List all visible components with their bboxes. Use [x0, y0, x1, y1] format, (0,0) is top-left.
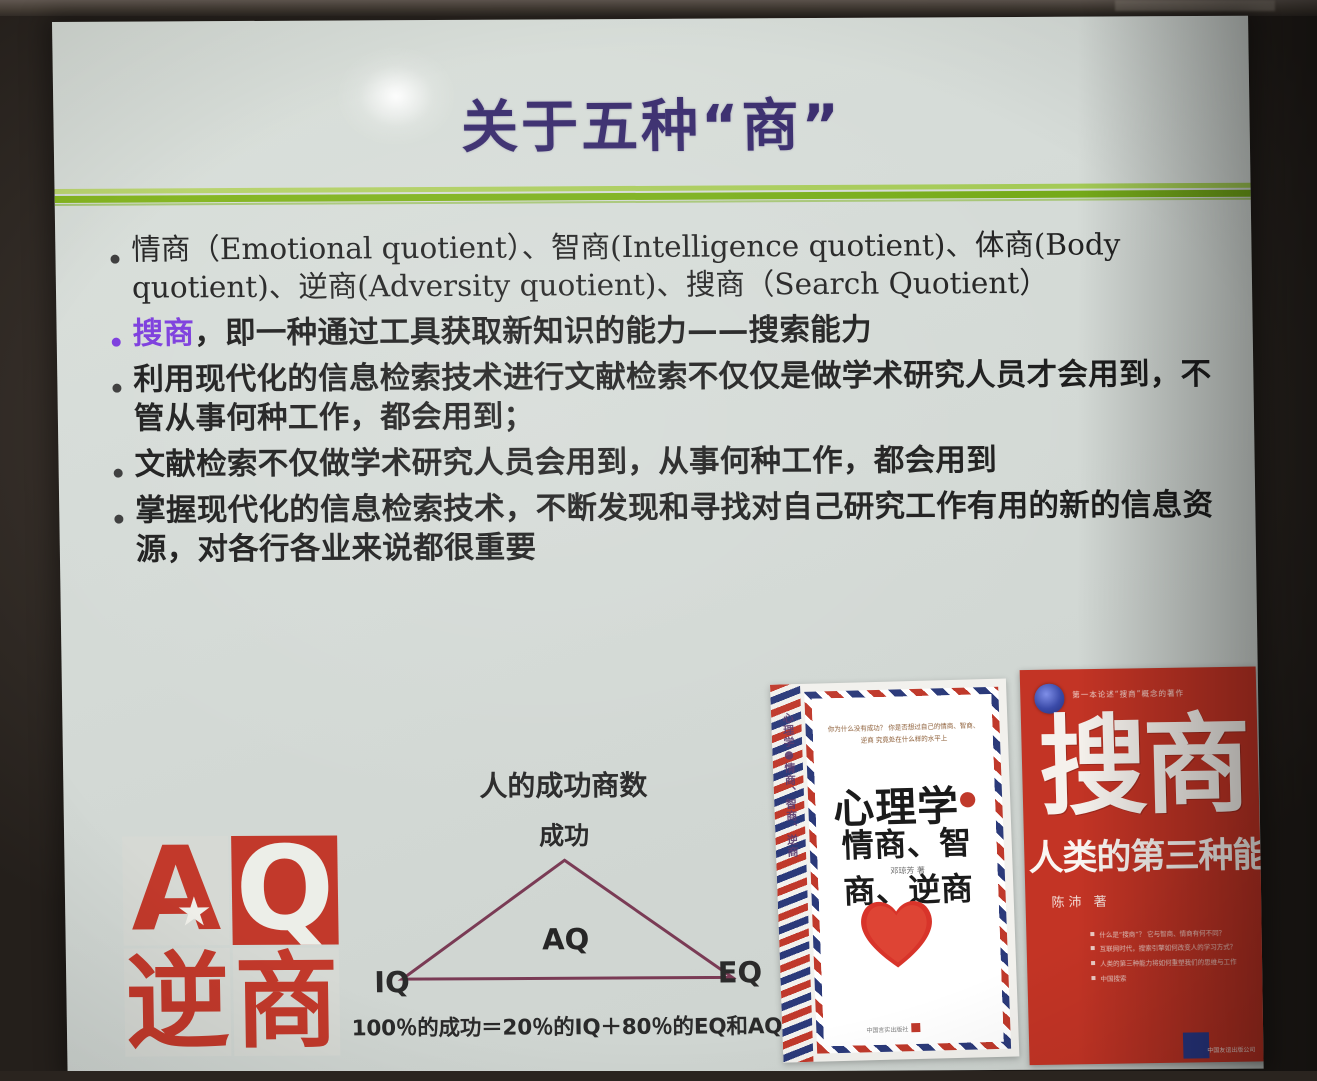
list-item: 情商（Emotional quotient）、智商(Intelligence q…: [97, 226, 1228, 307]
aq-han-shang: 商: [233, 947, 341, 1056]
accent-word: 搜商: [132, 316, 194, 351]
bullet-text-rest: ，即一种通过工具获取新知识的能力——搜索能力: [194, 312, 872, 351]
heart-icon: [852, 890, 941, 972]
list-item: 文献检索不仅做学术研究人员会用到，从事何种工作，都会用到: [100, 439, 1231, 484]
diagram-right-label: EQ: [717, 955, 762, 989]
book-blurb: 你为什么没有成功？ 你是否想过自己的情商、智商、逆商 究竟处在什么样的水平上: [825, 719, 982, 748]
wall-shadow: [1077, 0, 1317, 1081]
bullet-text: 搜商，即一种通过工具获取新知识的能力——搜索能力: [132, 308, 1229, 353]
aq-letter-a: A ★: [122, 836, 230, 945]
bullet-list: 情商（Emotional quotient）、智商(Intelligence q…: [97, 226, 1232, 577]
list-item: 搜商，即一种通过工具获取新知识的能力——搜索能力: [98, 308, 1229, 353]
bullet-marker: [100, 445, 135, 482]
aq-han-ni: 逆: [124, 948, 232, 1057]
bullet-text: 情商（Emotional quotient）、智商(Intelligence q…: [131, 226, 1228, 307]
diagram-left-label: IQ: [374, 965, 410, 999]
bullet-marker: [101, 491, 136, 528]
list-item: 利用现代化的信息检索技术进行文献检索不仅仅是做学术研究人员才会用到，不管从事何种…: [99, 354, 1230, 438]
publisher-mark-icon: [911, 1023, 920, 1032]
aq-logo-image: A ★ Q 逆 商: [122, 835, 340, 1056]
aq-letter-q-glyph: Q: [235, 840, 335, 940]
diagram-center-label: AQ: [365, 921, 766, 957]
diagram-title: 人的成功商数: [363, 763, 764, 805]
bullet-marker: [97, 232, 132, 269]
bullet-marker: [98, 314, 133, 351]
diagram-apex-label: 成功: [364, 815, 765, 853]
bullet-marker: [99, 360, 134, 397]
aq-han-shang-glyph: 商: [234, 949, 340, 1054]
bullet-text: 文献检索不仅做学术研究人员会用到，从事何种工作，都会用到: [134, 439, 1231, 484]
book-publisher-text: 中国言实出版社: [866, 1026, 908, 1034]
success-triangle-diagram: 人的成功商数 成功 AQ IQ EQ 100％的成功＝20％的IQ＋80％的EQ…: [363, 763, 767, 1065]
book-cover-psychology: 心理学●情商、智商、逆商 你为什么没有成功？ 你是否想过自己的情商、智商、逆商 …: [770, 679, 1019, 1063]
bullet-text: 掌握现代化的信息检索技术，不断发现和寻找对自己研究工作有用的新的信息资源，对各行…: [135, 485, 1232, 569]
wall-below-screen: [0, 1071, 1317, 1081]
book-title-mark: ●: [958, 786, 977, 810]
bullet-text: 利用现代化的信息检索技术进行文献检索不仅仅是做学术研究人员才会用到，不管从事何种…: [133, 354, 1230, 438]
slide-title: 关于五种“商”: [53, 78, 1250, 166]
room-photo: 关于五种“商” 情商（Emotional quotient）、智商(Intell…: [0, 0, 1317, 1081]
diagram-formula: 100％的成功＝20％的IQ＋80％的EQ和AQ: [345, 1009, 789, 1042]
aq-han-ni-glyph: 逆: [125, 950, 231, 1055]
list-item: 掌握现代化的信息检索技术，不断发现和寻找对自己研究工作有用的新的信息资源，对各行…: [101, 485, 1232, 569]
green-divider: [54, 182, 1250, 208]
aq-letter-q: Q: [231, 835, 339, 944]
